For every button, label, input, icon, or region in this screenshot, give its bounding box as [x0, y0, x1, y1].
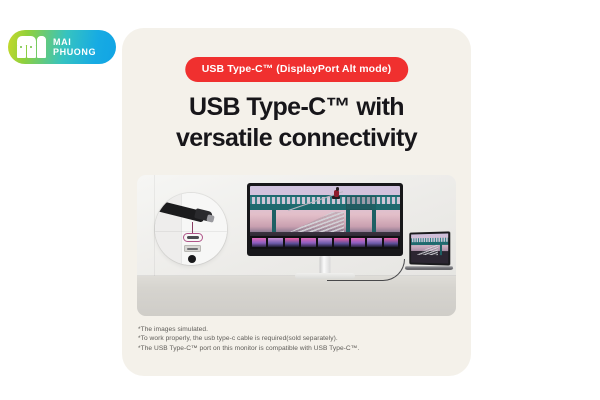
- laptop-keyboard-base: [405, 266, 454, 270]
- filmstrip-thumbnail: [285, 238, 299, 247]
- desk-surface: [137, 276, 456, 316]
- screen-person-body: [334, 190, 339, 197]
- filmstrip-thumbnail: [351, 238, 365, 247]
- usb-c-port-icon: [183, 233, 203, 242]
- monitor-bezel: [247, 183, 403, 256]
- status-badge: USB Type-C™ (DisplayPort Alt mode): [185, 57, 409, 82]
- filmstrip-thumbnail: [301, 238, 315, 247]
- mai-phuong-logo[interactable]: MAI PHUONG: [8, 30, 116, 64]
- product-photo: [137, 175, 456, 316]
- page-title: USB Type-C™ with versatile connectivity: [122, 92, 471, 154]
- logo-wordmark: MAI PHUONG: [53, 37, 96, 58]
- screen-post: [346, 210, 350, 232]
- screen-post: [272, 210, 276, 232]
- footnote-1: *The images simulated.: [138, 325, 456, 334]
- filmstrip-thumbnail: [252, 238, 266, 247]
- magnifier-background: [181, 193, 227, 265]
- filmstrip-thumbnail: [367, 238, 381, 247]
- panel-surface-line: [155, 231, 227, 232]
- footnotes: *The images simulated. *To work properly…: [138, 325, 456, 353]
- headline-line-1: USB Type-C™ with: [122, 92, 471, 123]
- monitor-screen: [250, 186, 400, 249]
- laptop: [405, 232, 453, 279]
- screen-post: [372, 204, 376, 232]
- laptop-lid: [409, 231, 450, 265]
- laptop-screen: [411, 233, 448, 263]
- mp-monogram-icon: [17, 36, 47, 58]
- connecting-cable: [327, 259, 405, 281]
- filmstrip-thumbnail: [384, 238, 398, 247]
- promo-card: USB Type-C™ (DisplayPort Alt mode) USB T…: [122, 28, 471, 376]
- hdmi-port-icon: [184, 245, 201, 252]
- audio-jack-icon: [188, 255, 196, 263]
- logo-line-2: PHUONG: [53, 47, 96, 58]
- filmstrip-thumbnail: [318, 238, 332, 247]
- screen-filmstrip: [250, 236, 400, 249]
- headline-line-2: versatile connectivity: [122, 123, 471, 154]
- laptop-screen-post: [440, 245, 442, 255]
- panel-seam: [181, 193, 182, 265]
- filmstrip-thumbnail: [334, 238, 348, 247]
- filmstrip-thumbnail: [268, 238, 282, 247]
- footnote-2: *To work properly, the usb type-c cable …: [138, 334, 456, 343]
- footnote-3: *The USB Type-C™ port on this monitor is…: [138, 344, 456, 353]
- screen-person-head: [336, 187, 340, 191]
- logo-line-1: MAI: [53, 37, 96, 48]
- usb-c-port-magnifier: [155, 193, 227, 265]
- page-root: MAI PHUONG USB Type-C™ (DisplayPort Alt …: [0, 0, 600, 400]
- laptop-screen-girder: [411, 242, 448, 245]
